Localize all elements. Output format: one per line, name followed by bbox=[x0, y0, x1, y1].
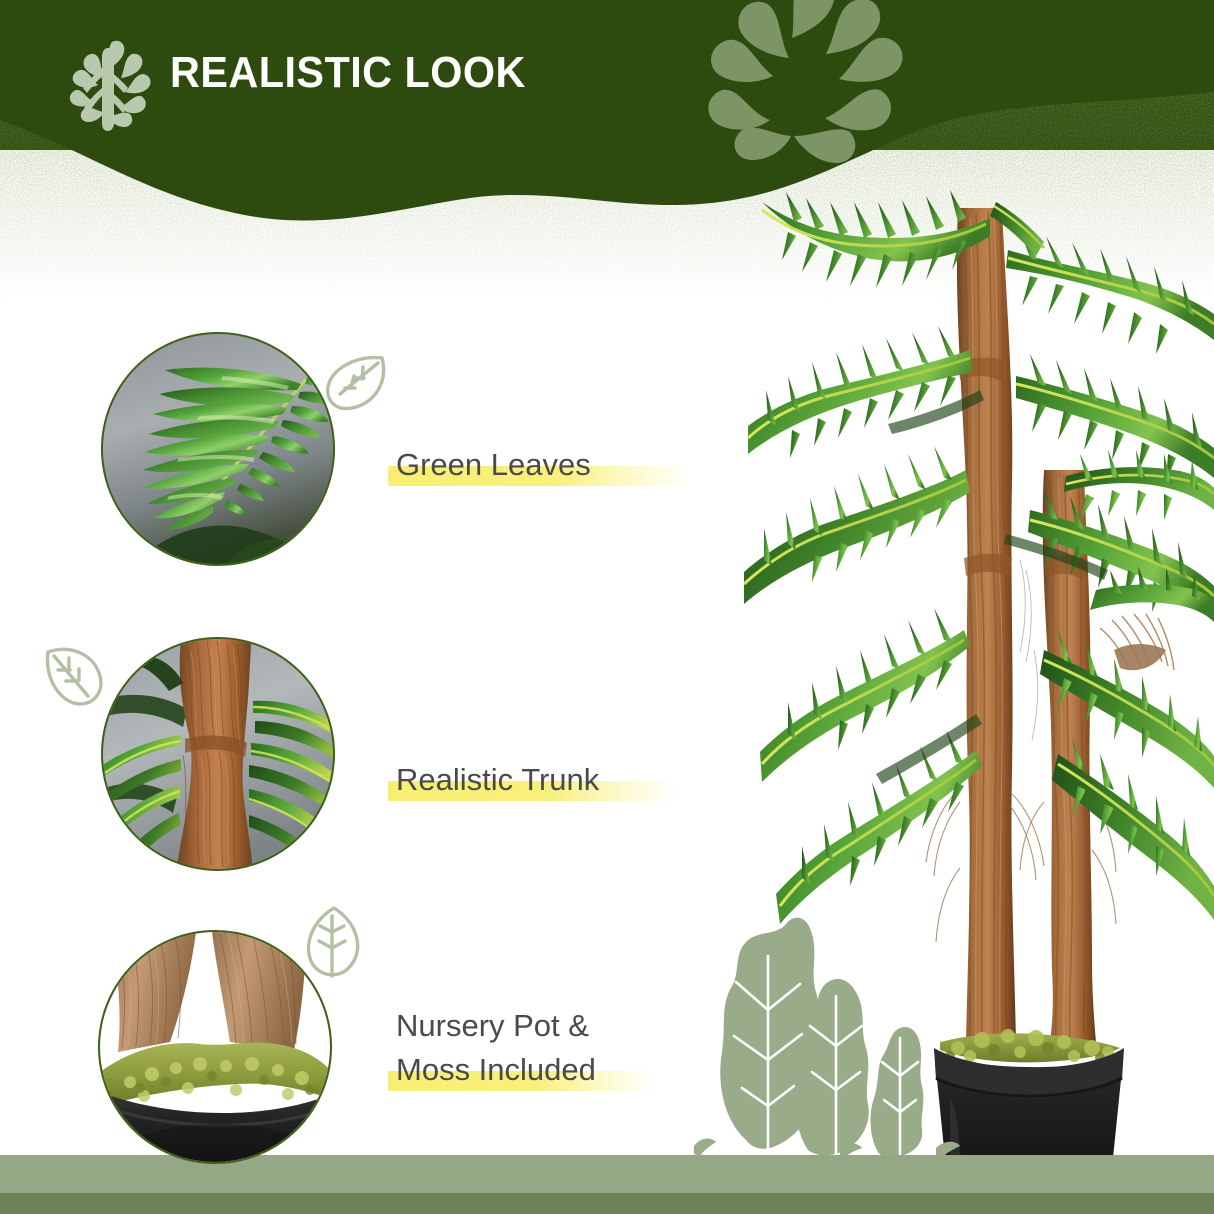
floor-band-light bbox=[0, 1155, 1214, 1193]
monstera-leaf-icon bbox=[58, 34, 162, 134]
leaf-outline-icon bbox=[318, 345, 394, 421]
leaf-outline-icon bbox=[296, 904, 372, 980]
fern-frond-closeup-image bbox=[103, 334, 333, 564]
feature-label-realistic-trunk: Realistic Trunk bbox=[396, 758, 599, 802]
trunk-closeup-image bbox=[103, 639, 333, 869]
leaf-outline-icon bbox=[36, 636, 112, 712]
feature-photo-realistic-trunk[interactable] bbox=[101, 637, 335, 871]
feature-label-line-1: Nursery Pot & bbox=[396, 1004, 596, 1048]
feature-photo-green-leaves[interactable] bbox=[101, 332, 335, 566]
product-feature-graphic: REALISTIC LOOK bbox=[0, 0, 1214, 1214]
feature-label-line-2: Moss Included bbox=[396, 1052, 596, 1087]
page-title: REALISTIC LOOK bbox=[170, 48, 526, 98]
floor-band-dark bbox=[0, 1193, 1214, 1214]
feature-label-green-leaves: Green Leaves bbox=[396, 443, 591, 487]
decorative-leaf-silhouettes bbox=[690, 900, 970, 1162]
feature-label-nursery-pot-moss: Nursery Pot & Moss Included bbox=[396, 1004, 596, 1092]
